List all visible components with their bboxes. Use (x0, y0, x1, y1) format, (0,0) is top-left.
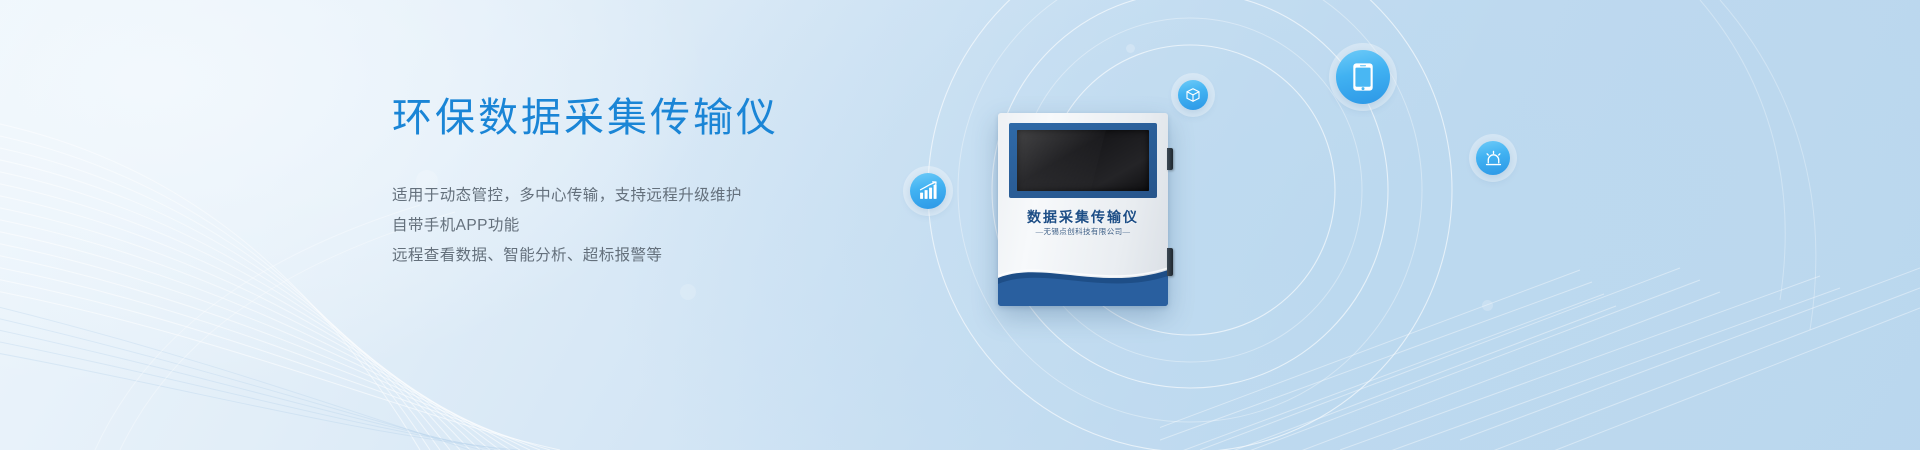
device-company-label: —无锡点创科技有限公司— (998, 226, 1168, 237)
feature-item: 远程查看数据、智能分析、超标报警等 (392, 241, 779, 271)
device-brand-label: 数据采集传输仪 (998, 207, 1168, 227)
device-side-button (1167, 148, 1173, 170)
device-side-button (1167, 248, 1173, 276)
orbit-arcs (860, 0, 1560, 450)
device-screen (1017, 130, 1149, 191)
data-acquisition-device: 数据采集传输仪 —无锡点创科技有限公司— (998, 113, 1168, 306)
alarm-icon (1476, 141, 1510, 175)
page-title: 环保数据采集传输仪 (392, 95, 779, 141)
phone-icon (1336, 50, 1390, 104)
device-stage: 数据采集传输仪 —无锡点创科技有限公司— (860, 0, 1560, 450)
hero-text-block: 环保数据采集传输仪 适用于动态管控，多中心传输，支持远程升级维护 自带手机APP… (392, 95, 779, 271)
chart-icon (910, 173, 946, 209)
decor-dot (680, 284, 696, 300)
feature-list: 适用于动态管控，多中心传输，支持远程升级维护 自带手机APP功能 远程查看数据、… (392, 181, 779, 271)
cube-icon (1178, 80, 1208, 110)
feature-item: 自带手机APP功能 (392, 211, 779, 241)
product-hero-banner: 环保数据采集传输仪 适用于动态管控，多中心传输，支持远程升级维护 自带手机APP… (0, 0, 1920, 450)
device-bezel (1009, 123, 1157, 198)
feature-item: 适用于动态管控，多中心传输，支持远程升级维护 (392, 181, 779, 211)
device-wave-decor (998, 252, 1168, 306)
